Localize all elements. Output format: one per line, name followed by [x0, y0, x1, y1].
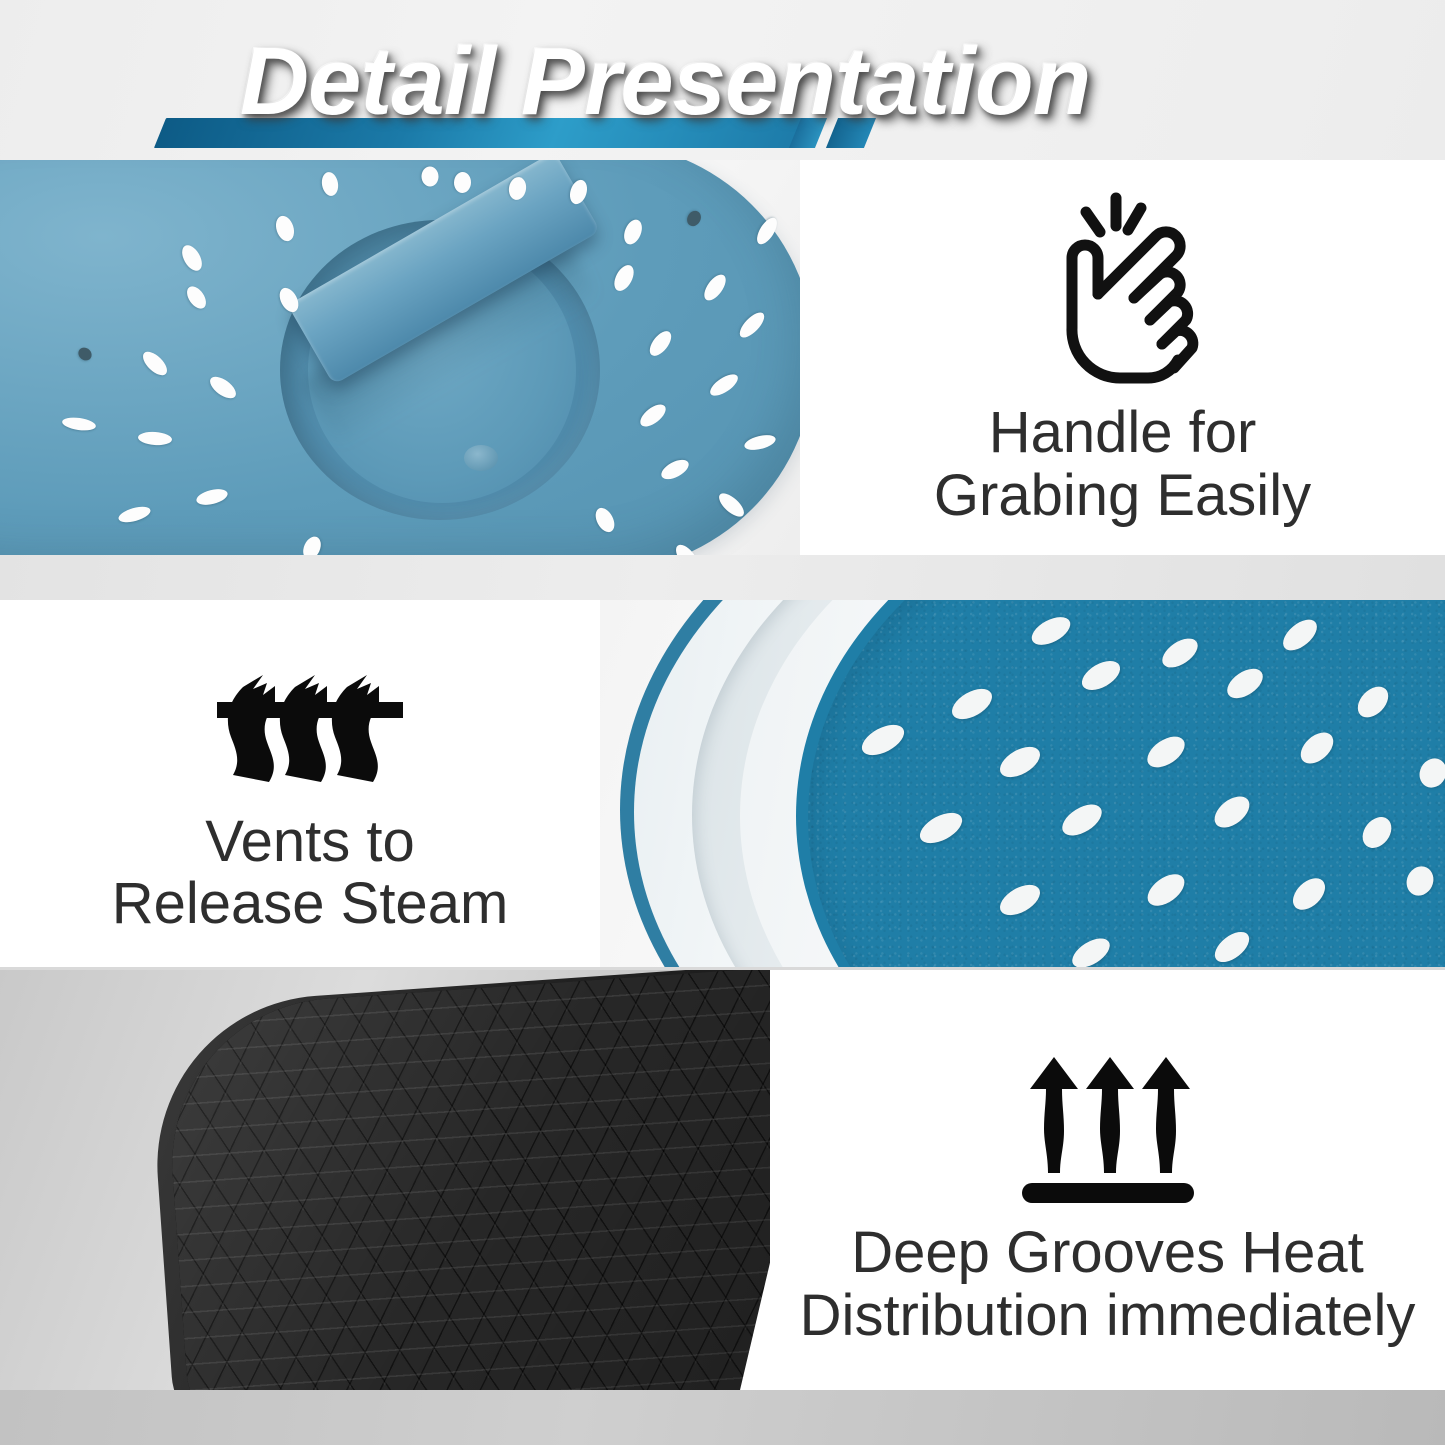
- caption-line-1: Deep Grooves Heat: [800, 1222, 1416, 1284]
- perforated-liner: [808, 600, 1445, 967]
- caption-line-1: Vents to: [112, 811, 509, 873]
- caption-line-1: Handle for: [934, 402, 1311, 464]
- page-header: Detail Presentation: [0, 0, 1445, 160]
- feature-text-grooves: Deep Grooves Heat Distribution immediate…: [770, 970, 1445, 1390]
- basket-dimple: [464, 445, 498, 471]
- product-photo-basket-handle: [0, 160, 800, 555]
- liner-texture: [808, 600, 1445, 967]
- page-title: Detail Presentation: [0, 34, 1330, 130]
- feature-caption-grooves: Deep Grooves Heat Distribution immediate…: [800, 1222, 1416, 1346]
- infographic-page: Detail Presentation: [0, 0, 1445, 1445]
- footer-band: [0, 1390, 1445, 1445]
- feature-text-vents: Vents to Release Steam: [0, 600, 620, 967]
- hand-grab-icon: [1038, 188, 1208, 388]
- feature-text-handle: Handle for Grabing Easily: [800, 160, 1445, 555]
- feature-panel-handle: Handle for Grabing Easily: [0, 160, 1445, 555]
- caption-line-2: Distribution immediately: [800, 1285, 1416, 1347]
- product-photo-liner-in-bowl: [600, 600, 1445, 967]
- feature-panel-grooves: Deep Grooves Heat Distribution immediate…: [0, 970, 1445, 1390]
- feature-caption-handle: Handle for Grabing Easily: [934, 402, 1311, 526]
- feature-panel-vents: Vents to Release Steam: [0, 600, 1445, 967]
- heat-rising-icon: [1018, 1013, 1198, 1208]
- caption-line-2: Release Steam: [112, 873, 509, 935]
- feature-caption-vents: Vents to Release Steam: [112, 811, 509, 935]
- steam-vents-icon: [215, 632, 405, 797]
- caption-line-2: Grabing Easily: [934, 465, 1311, 527]
- panel-divider-1: [0, 555, 1445, 600]
